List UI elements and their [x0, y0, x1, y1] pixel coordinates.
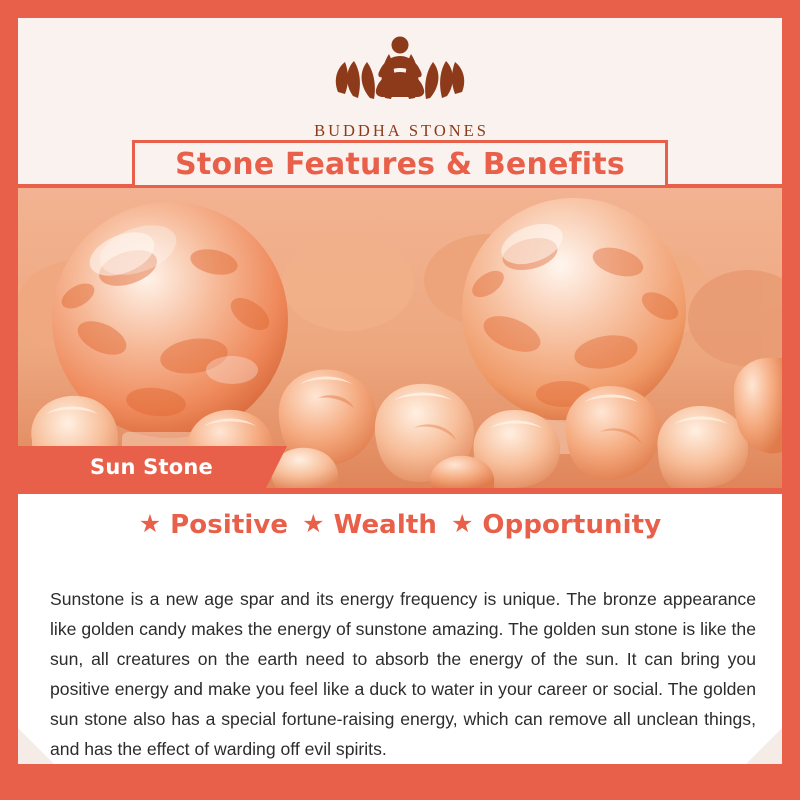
page-title: Stone Features & Benefits: [175, 147, 625, 182]
stone-name-tab: Sun Stone: [18, 446, 266, 488]
keyword-item: ★ Wealth: [302, 510, 437, 540]
brand-name: BUDDHA STONES: [18, 121, 782, 141]
brand-logo: BUDDHA STONES: [18, 28, 782, 141]
corner-accent-right: [746, 728, 782, 764]
stone-name: Sun Stone: [18, 455, 213, 479]
infographic-page: BUDDHA STONES Stone Features & Benefits: [0, 0, 800, 800]
corner-accent-left: [18, 728, 54, 764]
lotus-meditation-icon: [18, 28, 782, 119]
star-icon: ★: [139, 512, 161, 537]
star-icon: ★: [302, 512, 324, 537]
description-text: Sunstone is a new age spar and its energ…: [50, 584, 756, 764]
sunstone-photo: [18, 188, 782, 488]
keyword-item: ★ Positive: [139, 510, 288, 540]
keyword-item: ★ Opportunity: [451, 510, 661, 540]
content-panel: ★ Positive ★ Wealth ★ Opportunity Sunsto…: [18, 494, 782, 764]
star-icon: ★: [451, 512, 473, 537]
keyword-list: ★ Positive ★ Wealth ★ Opportunity: [18, 510, 782, 540]
keyword-label: Opportunity: [482, 510, 661, 540]
keyword-label: Wealth: [334, 510, 437, 540]
section-title-banner: Stone Features & Benefits: [132, 140, 668, 188]
keyword-label: Positive: [170, 510, 288, 540]
